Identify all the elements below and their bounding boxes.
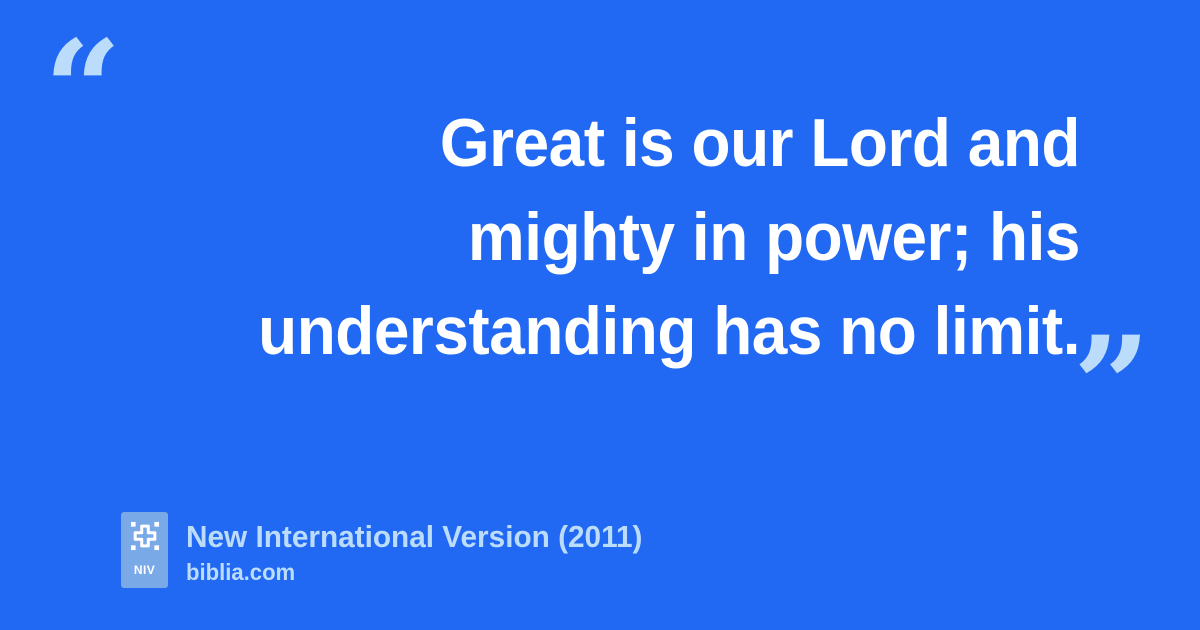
niv-badge-label: NIV: [134, 564, 155, 576]
attribution-text: New International Version (2011) biblia.…: [186, 512, 662, 587]
niv-cross-brackets-icon: [130, 521, 160, 551]
quote-card: “ Great is our Lord and mighty in power;…: [0, 0, 1200, 630]
quote-text-block: Great is our Lord and mighty in power; h…: [60, 96, 1080, 378]
site-url-label[interactable]: biblia.com: [186, 557, 642, 587]
bible-version-label: New International Version (2011): [186, 518, 642, 556]
quote-line-1: Great is our Lord and: [121, 96, 1080, 190]
quote-line-2: mighty in power; his: [121, 190, 1080, 284]
quote-line-3: understanding has no limit.: [121, 284, 1080, 378]
close-quote-icon: ”: [1073, 318, 1151, 453]
attribution-block: NIV New International Version (2011) bib…: [121, 512, 662, 588]
niv-logo-badge[interactable]: NIV: [121, 512, 168, 588]
